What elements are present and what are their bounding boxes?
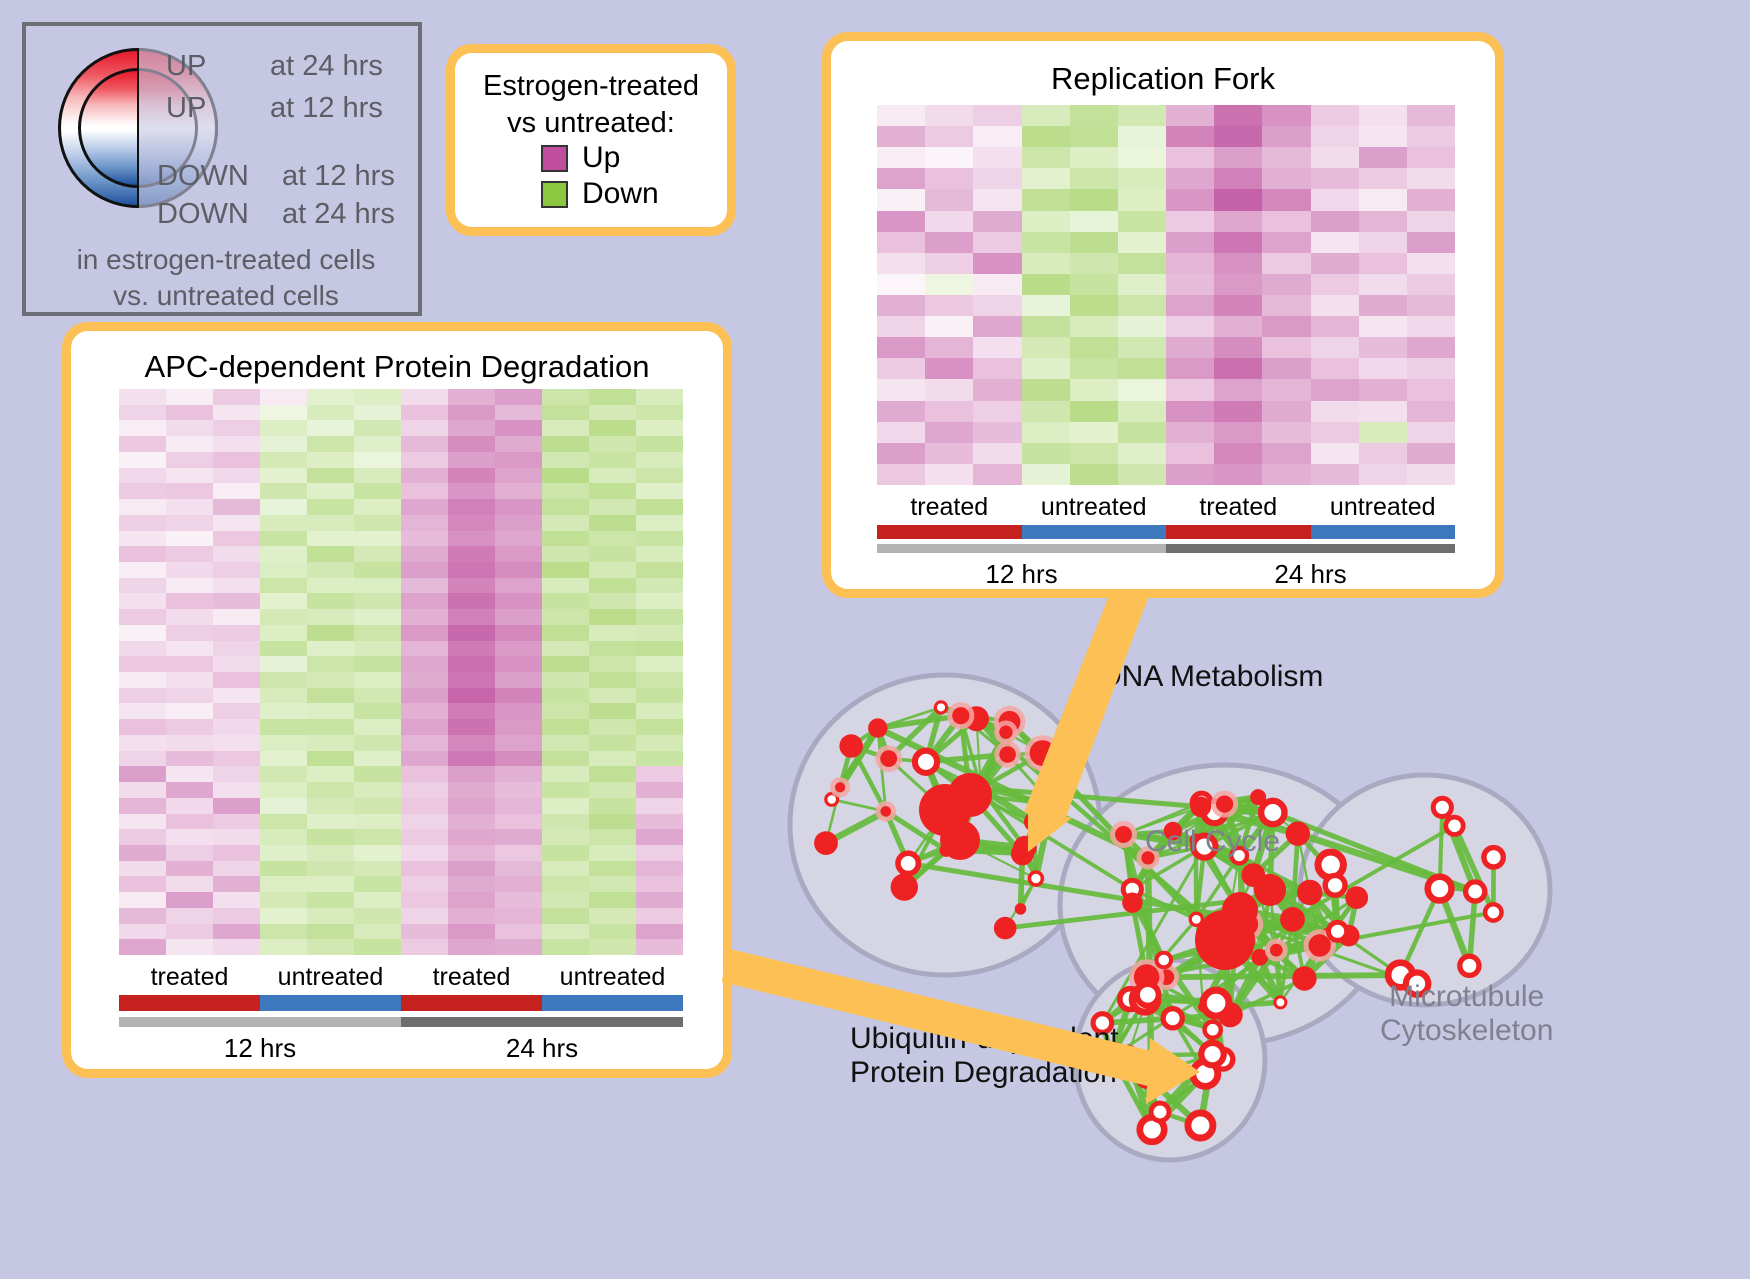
heatmap-cell — [448, 578, 495, 594]
network-node[interactable] — [1201, 1043, 1223, 1065]
heatmap-cell — [307, 924, 354, 940]
heatmap-cell — [877, 379, 925, 400]
apc-bar-treated-24 — [401, 995, 542, 1011]
heatmap-cell — [925, 358, 973, 379]
heatmap-cell — [589, 531, 636, 547]
heatmap-cell — [354, 546, 401, 562]
heatmap-cell — [1118, 295, 1166, 316]
heatmap-cell — [1166, 211, 1214, 232]
key-dir-0: UP — [166, 50, 206, 83]
network-node[interactable] — [1157, 953, 1172, 968]
network-node[interactable] — [1013, 836, 1036, 859]
heatmap-cell — [636, 609, 683, 625]
heatmap-cell — [166, 562, 213, 578]
network-node[interactable] — [1446, 817, 1463, 834]
heatmap-cell — [1359, 443, 1407, 464]
heatmap-cell — [1359, 168, 1407, 189]
network-node[interactable] — [1485, 904, 1501, 920]
heatmap-cell — [925, 337, 973, 358]
heatmap-cell — [589, 719, 636, 735]
network-node[interactable] — [1270, 944, 1283, 957]
heatmap-cell — [260, 405, 307, 421]
network-node[interactable] — [1137, 1067, 1156, 1086]
heatmap-cell — [307, 546, 354, 562]
heatmap-cell — [542, 546, 589, 562]
heatmap-cell — [495, 892, 542, 908]
heatmap-cell — [1214, 147, 1262, 168]
heatmap-cell — [354, 719, 401, 735]
heatmap-cell — [1407, 422, 1455, 443]
heatmap-cell — [1070, 358, 1118, 379]
network-node[interactable] — [835, 782, 845, 792]
network-node[interactable] — [1151, 1103, 1169, 1121]
heatmap-cell — [401, 782, 448, 798]
heatmap-cell — [589, 468, 636, 484]
heatmap-cell — [1262, 126, 1310, 147]
network-node[interactable] — [1428, 877, 1452, 901]
heatmap-cell — [636, 499, 683, 515]
network-node[interactable] — [935, 702, 946, 713]
heatmap-cell — [973, 232, 1021, 253]
network-node[interactable] — [1484, 848, 1503, 867]
heatmap-cell — [260, 719, 307, 735]
heatmap-cell — [1022, 189, 1070, 210]
heatmap-cell — [354, 562, 401, 578]
heatmap-cell — [448, 483, 495, 499]
heatmap-cell — [166, 468, 213, 484]
heatmap-cell — [636, 483, 683, 499]
heatmap-cell — [260, 798, 307, 814]
network-node[interactable] — [948, 773, 992, 817]
heatmap-cell — [636, 814, 683, 830]
replication-fork-panel: Replication Fork treated untreated treat… — [822, 32, 1504, 598]
heatmap-cell — [260, 593, 307, 609]
network-node[interactable] — [1250, 789, 1266, 805]
heatmap-cell — [1311, 253, 1359, 274]
heatmap-cell — [354, 861, 401, 877]
heatmap-cell — [166, 641, 213, 657]
heatmap-cell — [119, 515, 166, 531]
heatmap-cell — [1262, 422, 1310, 443]
heatmap-cell — [589, 829, 636, 845]
heatmap-cell — [589, 924, 636, 940]
heatmap-cell — [448, 625, 495, 641]
cluster-label-ubiquitin-degradation: Ubiquitin-dependent Protein Degradation — [850, 1022, 1119, 1089]
heatmap-cell — [1214, 358, 1262, 379]
heatmap-cell — [589, 420, 636, 436]
network-node[interactable] — [1345, 886, 1368, 909]
heatmap-cell — [1262, 147, 1310, 168]
heatmap-cell — [1262, 105, 1310, 126]
heatmap-cell — [925, 168, 973, 189]
network-node[interactable] — [1205, 1022, 1221, 1038]
network-node[interactable] — [999, 726, 1012, 739]
heatmap-cell — [973, 464, 1021, 485]
heatmap-cell — [119, 735, 166, 751]
heatmap-cell — [542, 405, 589, 421]
heatmap-cell — [1407, 401, 1455, 422]
network-node[interactable] — [1216, 796, 1233, 813]
fork-time-label-24: 24 hrs — [1166, 559, 1455, 590]
heatmap-cell — [448, 593, 495, 609]
heatmap-cell — [1070, 316, 1118, 337]
heatmap-cell — [166, 672, 213, 688]
heatmap-cell — [1022, 422, 1070, 443]
heatmap-cell — [589, 546, 636, 562]
heatmap-cell — [307, 751, 354, 767]
network-node[interactable] — [1024, 812, 1044, 832]
heatmap-cell — [354, 468, 401, 484]
heatmap-cell — [877, 147, 925, 168]
network-node[interactable] — [1433, 798, 1451, 816]
heatmap-cell — [213, 719, 260, 735]
key-footer-line2: vs. untreated cells — [26, 280, 426, 312]
heatmap-cell — [925, 189, 973, 210]
heatmap-cell — [213, 578, 260, 594]
heatmap-cell — [636, 578, 683, 594]
heatmap-cell — [401, 735, 448, 751]
heatmap-cell — [260, 483, 307, 499]
heatmap-cell — [1311, 443, 1359, 464]
heatmap-cell — [401, 688, 448, 704]
heatmap-cell — [1407, 105, 1455, 126]
fork-group-label-1: untreated — [1022, 493, 1167, 522]
heatmap-cell — [448, 389, 495, 405]
heatmap-cell — [636, 625, 683, 641]
heatmap-cell — [213, 861, 260, 877]
heatmap-cell — [1022, 358, 1070, 379]
heatmap-cell — [973, 295, 1021, 316]
network-node[interactable] — [898, 853, 918, 873]
heatmap-cell — [307, 719, 354, 735]
heatmap-cell — [925, 295, 973, 316]
heatmap-cell — [1166, 464, 1214, 485]
heatmap-cell — [166, 515, 213, 531]
heatmap-cell — [1311, 337, 1359, 358]
heatmap-cell — [213, 436, 260, 452]
heatmap-cell — [1070, 168, 1118, 189]
heatmap-cell — [542, 562, 589, 578]
network-svg — [770, 610, 1730, 1270]
heatmap-cell — [925, 232, 973, 253]
heatmap-cell — [1311, 422, 1359, 443]
heatmap-cell — [636, 641, 683, 657]
heatmap-cell — [542, 829, 589, 845]
apc-group-label-3: untreated — [542, 963, 683, 992]
heatmap-cell — [636, 405, 683, 421]
heatmap-cell — [307, 939, 354, 955]
fork-time-bar — [877, 544, 1455, 553]
heatmap-cell — [166, 939, 213, 955]
heatmap-cell — [973, 443, 1021, 464]
network-node[interactable] — [1115, 826, 1132, 843]
heatmap-cell — [260, 735, 307, 751]
heatmap-cell — [213, 908, 260, 924]
heatmap-cell — [448, 892, 495, 908]
heatmap-cell — [307, 814, 354, 830]
network-node[interactable] — [1222, 892, 1258, 928]
swatch-down-icon — [541, 181, 568, 208]
heatmap-cell — [1166, 379, 1214, 400]
network-node[interactable] — [1039, 791, 1064, 816]
heatmap-cell — [119, 420, 166, 436]
network-node[interactable] — [940, 820, 980, 860]
heatmap-cell — [1407, 337, 1455, 358]
heatmap-cell — [495, 436, 542, 452]
heatmap-cell — [448, 798, 495, 814]
heatmap-cell — [925, 211, 973, 232]
heatmap-cell — [1022, 168, 1070, 189]
heatmap-cell — [354, 751, 401, 767]
apc-bar-24hrs — [401, 1017, 683, 1027]
heatmap-cell — [307, 892, 354, 908]
heatmap-cell — [542, 876, 589, 892]
heatmap-cell — [119, 703, 166, 719]
heatmap-cell — [495, 924, 542, 940]
heatmap-cell — [495, 578, 542, 594]
heatmap-cell — [1311, 105, 1359, 126]
heatmap-cell — [1118, 274, 1166, 295]
heatmap-cell — [119, 751, 166, 767]
network-node[interactable] — [1309, 934, 1331, 956]
heatmap-cell — [1359, 147, 1407, 168]
network-node[interactable] — [1015, 903, 1027, 915]
heatmap-cell — [448, 562, 495, 578]
heatmap-cell — [448, 546, 495, 562]
heatmap-cell — [877, 337, 925, 358]
heatmap-cell — [260, 782, 307, 798]
heatmap-cell — [973, 147, 1021, 168]
heatmap-cell — [973, 211, 1021, 232]
heatmap-cell — [166, 531, 213, 547]
heatmap-cell — [1359, 316, 1407, 337]
apc-degradation-panel: APC-dependent Protein Degradation treate… — [62, 322, 732, 1078]
heatmap-cell — [925, 105, 973, 126]
heatmap-cell — [973, 337, 1021, 358]
heatmap-cell — [495, 546, 542, 562]
heatmap-cell — [925, 147, 973, 168]
heatmap-cell — [589, 562, 636, 578]
heatmap-cell — [1407, 295, 1455, 316]
heatmap-cell — [354, 845, 401, 861]
heatmap-cell — [542, 908, 589, 924]
heatmap-cell — [260, 546, 307, 562]
heatmap-cell — [260, 452, 307, 468]
network-node[interactable] — [1286, 822, 1310, 846]
network-node[interactable] — [915, 751, 937, 773]
heatmap-cell — [1118, 401, 1166, 422]
heatmap-cell — [448, 751, 495, 767]
heatmap-cell — [925, 443, 973, 464]
heatmap-cell — [1359, 105, 1407, 126]
heatmap-cell — [166, 405, 213, 421]
heatmap-cell — [589, 389, 636, 405]
heatmap-cell — [213, 735, 260, 751]
heatmap-cell — [1022, 316, 1070, 337]
network-node[interactable] — [1329, 922, 1347, 940]
heatmap-cell — [1407, 126, 1455, 147]
heatmap-cell — [166, 656, 213, 672]
key-time-1: at 12 hrs — [270, 92, 383, 125]
heatmap-cell — [1359, 253, 1407, 274]
heatmap-cell — [213, 609, 260, 625]
heatmap-cell — [166, 735, 213, 751]
network-node[interactable] — [1122, 893, 1142, 913]
network-node[interactable] — [868, 718, 887, 737]
apc-bar-untreated-12 — [260, 995, 401, 1011]
network-node[interactable] — [1254, 874, 1286, 906]
heatmap-cell — [401, 876, 448, 892]
network-node[interactable] — [1030, 740, 1056, 766]
network-node[interactable] — [880, 750, 897, 767]
heatmap-cell — [260, 515, 307, 531]
network-node[interactable] — [952, 707, 969, 724]
heatmap-cell — [877, 464, 925, 485]
heatmap-cell — [401, 751, 448, 767]
network-node[interactable] — [1163, 1009, 1182, 1028]
apc-group-labels: treated untreated treated untreated — [119, 963, 683, 992]
network-node[interactable] — [999, 746, 1016, 763]
network-node[interactable] — [1460, 956, 1479, 975]
heatmap-cell — [1407, 147, 1455, 168]
network-node[interactable] — [814, 831, 838, 855]
heatmap-cell — [307, 625, 354, 641]
heatmap-cell — [166, 593, 213, 609]
heatmap-cell — [542, 625, 589, 641]
heatmap-cell — [307, 515, 354, 531]
heatmap-cell — [1166, 295, 1214, 316]
heatmap-cell — [1022, 379, 1070, 400]
heatmap-cell — [1070, 401, 1118, 422]
heatmap-cell — [448, 436, 495, 452]
heatmap-cell — [119, 625, 166, 641]
heatmap-cell — [260, 924, 307, 940]
heatmap-cell — [448, 656, 495, 672]
heatmap-cell — [495, 845, 542, 861]
cluster-label-microtubule-cytoskeleton: Microtubule Cytoskeleton — [1380, 980, 1553, 1047]
heatmap-apc-degradation — [119, 389, 683, 955]
heatmap-cell — [542, 436, 589, 452]
heatmap-cell — [1359, 464, 1407, 485]
heatmap-cell — [973, 401, 1021, 422]
heatmap-cell — [213, 782, 260, 798]
apc-group-label-0: treated — [119, 963, 260, 992]
heatmap-cell — [260, 499, 307, 515]
heatmap-cell — [119, 798, 166, 814]
apc-time-labels: 12 hrs 24 hrs — [119, 1033, 683, 1064]
heatmap-cell — [401, 389, 448, 405]
heatmap-cell — [495, 798, 542, 814]
network-node[interactable] — [1297, 880, 1322, 905]
heatmap-cell — [636, 735, 683, 751]
heatmap-cell — [925, 401, 973, 422]
network-node[interactable] — [1261, 801, 1284, 824]
heatmap-cell — [166, 876, 213, 892]
apc-time-label-24: 24 hrs — [401, 1033, 683, 1064]
network-node[interactable] — [1190, 796, 1211, 817]
network-node[interactable] — [1137, 984, 1159, 1006]
network-node[interactable] — [1029, 872, 1042, 885]
heatmap-cell — [354, 420, 401, 436]
heatmap-cell — [119, 672, 166, 688]
heatmap-cell — [401, 531, 448, 547]
heatmap-cell — [589, 814, 636, 830]
network-node[interactable] — [1188, 1113, 1213, 1138]
heatmap-cell — [1311, 232, 1359, 253]
heatmap-cell — [307, 735, 354, 751]
network-node[interactable] — [881, 806, 892, 817]
heatmap-cell — [542, 672, 589, 688]
heatmap-cell — [877, 168, 925, 189]
heatmap-cell — [1118, 105, 1166, 126]
network-node[interactable] — [1203, 990, 1229, 1016]
key-dir-2: DOWN — [157, 160, 249, 193]
network-node[interactable] — [839, 734, 863, 758]
heatmap-cell — [542, 814, 589, 830]
heatmap-cell — [1311, 358, 1359, 379]
heatmap-cell — [589, 609, 636, 625]
heatmap-cell — [119, 452, 166, 468]
heatmap-cell — [495, 751, 542, 767]
heatmap-cell — [307, 798, 354, 814]
heatmap-cell — [1166, 274, 1214, 295]
heatmap-cell — [1166, 422, 1214, 443]
heatmap-cell — [636, 436, 683, 452]
heatmap-cell — [1262, 337, 1310, 358]
heatmap-cell — [401, 672, 448, 688]
heatmap-cell — [495, 515, 542, 531]
heatmap-cell — [260, 876, 307, 892]
heatmap-cell — [448, 766, 495, 782]
heatmap-cell — [1022, 253, 1070, 274]
network-node[interactable] — [1292, 966, 1316, 990]
network-node[interactable] — [1275, 997, 1286, 1008]
heatmap-cell — [1022, 337, 1070, 358]
heatmap-cell — [213, 483, 260, 499]
key-footer-line1: in estrogen-treated cells — [26, 244, 426, 276]
heatmap-cell — [119, 892, 166, 908]
heatmap-cell — [973, 422, 1021, 443]
heatmap-cell — [589, 876, 636, 892]
heatmap-cell — [260, 703, 307, 719]
heatmap-cell — [636, 546, 683, 562]
heatmap-cell — [166, 625, 213, 641]
heatmap-cell — [166, 908, 213, 924]
heatmap-cell — [973, 126, 1021, 147]
heatmap-cell — [636, 688, 683, 704]
heatmap-cell — [448, 861, 495, 877]
heatmap-cell — [495, 656, 542, 672]
heatmap-cell — [542, 688, 589, 704]
network-node[interactable] — [1280, 907, 1305, 932]
heatmap-cell — [589, 939, 636, 955]
network-node[interactable] — [891, 873, 918, 900]
heatmap-cell — [1070, 422, 1118, 443]
heatmap-cell — [589, 641, 636, 657]
heatmap-cell — [1311, 401, 1359, 422]
heatmap-cell — [1262, 464, 1310, 485]
heatmap-cell — [307, 468, 354, 484]
heatmap-cell — [260, 766, 307, 782]
heatmap-cell — [307, 908, 354, 924]
network-node[interactable] — [994, 917, 1017, 940]
network-node[interactable] — [1325, 875, 1345, 895]
heatmap-cell — [448, 405, 495, 421]
network-node[interactable] — [1466, 882, 1485, 901]
heatmap-cell — [1262, 232, 1310, 253]
apc-bar-treated-12 — [119, 995, 260, 1011]
heatmap-cell — [1262, 211, 1310, 232]
